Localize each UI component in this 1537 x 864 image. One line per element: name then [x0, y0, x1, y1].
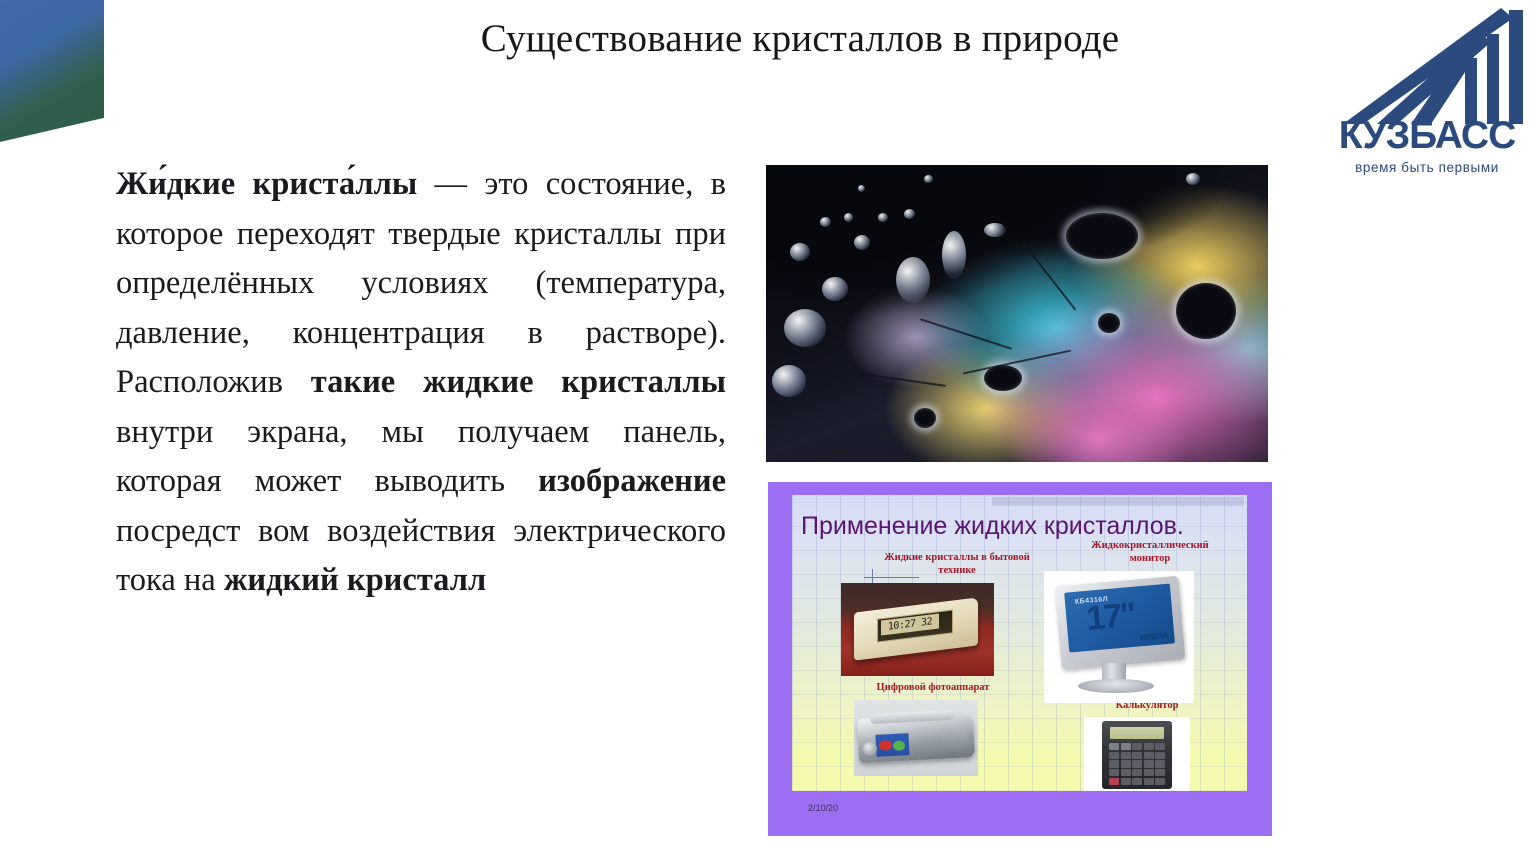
camera-screen-red-shape — [879, 740, 893, 751]
calculator-key — [1144, 769, 1154, 776]
micrograph-droplet — [772, 365, 806, 397]
calculator-key — [1132, 778, 1142, 785]
applications-slide-canvas: Применение жидких кристаллов. Жидкие кри… — [792, 495, 1247, 791]
calculator-keypad — [1109, 743, 1165, 785]
micrograph-droplet — [904, 209, 915, 219]
photo-lcd-monitor: КБ4316Л 17" ИУВПА — [1044, 571, 1194, 703]
monitor-screen: КБ4316Л 17" ИУВПА — [1064, 584, 1175, 653]
label-home-appliances: Жидкие кристаллы в бытовой технике — [882, 551, 1032, 577]
calculator-key — [1144, 760, 1154, 767]
micrograph-droplet — [820, 217, 831, 227]
calculator-key-accent — [1109, 778, 1119, 785]
micrograph-droplet — [896, 257, 930, 303]
camera-lcd-screen — [875, 733, 909, 757]
monitor-bezel: КБ4316Л 17" ИУВПА — [1055, 576, 1186, 670]
term-image: изображение — [538, 463, 726, 499]
monitor-stand-base — [1078, 679, 1154, 693]
applications-slide-title: Применение жидких кристаллов. — [801, 512, 1184, 541]
body-paragraph: Жи́дкие криста́ллы — это состояние, в ко… — [116, 160, 726, 606]
calculator-key — [1155, 743, 1165, 750]
slide-date: 2/10/20 — [808, 803, 838, 813]
calculator-key — [1109, 752, 1119, 759]
kuzbass-wordmark: КУЗБАСС — [1331, 116, 1523, 155]
micrograph-droplet — [854, 235, 870, 250]
calculator-key — [1132, 760, 1142, 767]
calculator-key — [1121, 769, 1131, 776]
calculator-key — [1132, 769, 1142, 776]
micrograph-droplet — [984, 223, 1006, 237]
micrograph-hole — [984, 365, 1022, 391]
calculator-key — [1121, 752, 1131, 759]
calculator-body — [1102, 721, 1172, 789]
micrograph-droplet — [844, 213, 853, 222]
camera-mode-dial — [863, 742, 877, 756]
calculator-key — [1109, 743, 1119, 750]
calculator-key — [1121, 778, 1131, 785]
micrograph-hole — [1066, 213, 1138, 259]
term-liquid-crystal: жидкий кристалл — [224, 562, 486, 598]
micrograph-droplet — [784, 309, 826, 347]
calculator-key — [1155, 769, 1165, 776]
micrograph-droplet — [924, 175, 933, 183]
micrograph-droplet — [822, 277, 848, 301]
term-such-liquid-crystals: такие жидкие кристаллы — [311, 364, 726, 400]
micrograph-droplet — [790, 243, 810, 261]
term-liquid-crystals: Жи́дкие криста́ллы — [116, 166, 417, 202]
calculator-key — [1121, 760, 1131, 767]
calculator-key — [1132, 752, 1142, 759]
calculator-key — [1109, 760, 1119, 767]
micrograph-hole — [914, 408, 936, 428]
micrograph-droplet — [1186, 173, 1200, 185]
calculator-key — [1121, 743, 1131, 750]
kuzbass-triangle-icon — [1341, 8, 1523, 124]
photo-clock-radio: 10:27 32 — [841, 583, 994, 676]
calculator-key — [1144, 778, 1154, 785]
page-title: Существование кристаллов в природе — [300, 16, 1300, 63]
micrograph-droplet — [878, 213, 888, 222]
micrograph-hole — [1098, 313, 1120, 333]
calculator-key — [1144, 743, 1154, 750]
micrograph-droplet — [942, 231, 966, 279]
label-lcd-monitor: Жидкокристаллический монитор — [1070, 539, 1230, 565]
liquid-crystal-micrograph — [766, 165, 1268, 462]
monitor-sub-text: ИУВПА — [1140, 631, 1169, 642]
label-digital-camera: Цифровой фотоаппарат — [848, 681, 1018, 694]
calculator-display — [1110, 727, 1164, 739]
calculator-key — [1155, 752, 1165, 759]
kuzbass-tagline: время быть первыми — [1331, 160, 1523, 175]
slide-top-strip — [992, 497, 1244, 506]
camera-screen-green-shape — [893, 740, 906, 751]
calculator-key — [1132, 743, 1142, 750]
calculator-key — [1109, 769, 1119, 776]
photo-digital-camera — [854, 700, 978, 776]
micrograph-hole — [1176, 283, 1236, 339]
applications-slide-photo: Применение жидких кристаллов. Жидкие кри… — [768, 482, 1272, 836]
calculator-key — [1144, 752, 1154, 759]
monitor-size-text: 17" — [1085, 598, 1136, 636]
kuzbass-logo: КУЗБАСС время быть первыми — [1323, 8, 1523, 188]
micrograph-droplet — [858, 185, 865, 192]
corner-decoration — [0, 0, 104, 142]
anchor-leader-line — [881, 577, 919, 578]
calculator-key — [1155, 760, 1165, 767]
calculator-key — [1155, 778, 1165, 785]
photo-calculator — [1084, 717, 1190, 791]
